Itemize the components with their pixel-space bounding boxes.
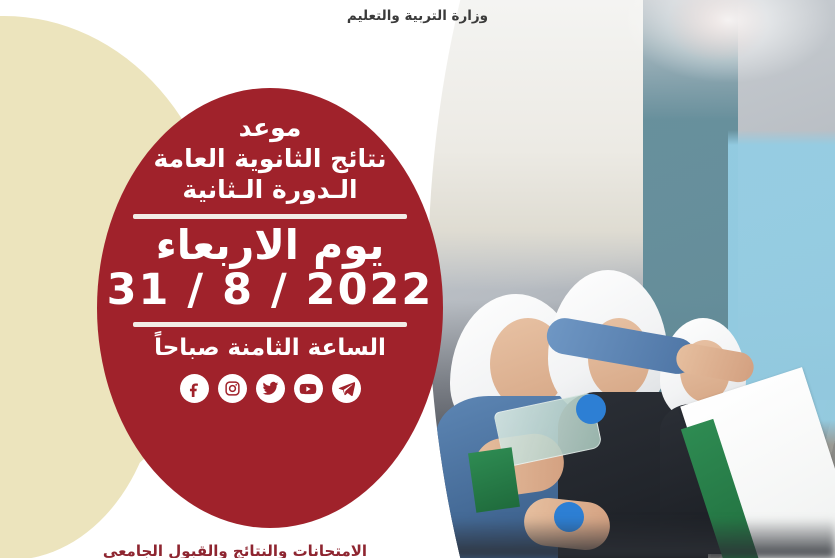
water-bottle-cap bbox=[576, 394, 606, 424]
photo-bottom-vignette bbox=[428, 518, 835, 558]
poster-root: وزارة التربية والتعليم موعد نتائج الثانو… bbox=[0, 0, 835, 558]
divider-rule-bottom bbox=[133, 322, 407, 327]
headline-line-3: الـدورة الـثانية bbox=[182, 174, 357, 205]
youtube-icon bbox=[299, 380, 317, 398]
twitter-icon bbox=[262, 380, 279, 397]
students-photo-panel bbox=[428, 0, 835, 558]
footer-clipped-strip: الامتحانات والنتائج والقبول الجامعي bbox=[0, 540, 470, 558]
date-label: 31 / 8 / 2022 bbox=[107, 267, 434, 314]
notebook-green bbox=[468, 447, 520, 513]
instagram-icon bbox=[224, 380, 241, 397]
telegram-icon bbox=[338, 380, 355, 397]
photo-clip-mask bbox=[428, 0, 835, 558]
headline-line-1: موعد bbox=[239, 112, 302, 143]
headline-line-2: نتائج الثانوية العامة bbox=[153, 143, 386, 174]
social-link-telegram[interactable] bbox=[332, 374, 361, 403]
social-link-youtube[interactable] bbox=[294, 374, 323, 403]
day-label: يوم الاربعاء bbox=[156, 223, 385, 267]
time-label: الساعة الثامنة صباحاً bbox=[154, 335, 386, 363]
social-link-facebook[interactable] bbox=[180, 374, 209, 403]
social-link-twitter[interactable] bbox=[256, 374, 285, 403]
footer-text: الامتحانات والنتائج والقبول الجامعي bbox=[0, 542, 470, 558]
social-link-instagram[interactable] bbox=[218, 374, 247, 403]
facebook-icon bbox=[186, 380, 203, 397]
ministry-title: وزارة التربية والتعليم bbox=[0, 8, 835, 24]
divider-rule-top bbox=[133, 214, 407, 219]
announcement-red-circle: موعد نتائج الثانوية العامة الـدورة الـثا… bbox=[97, 88, 443, 528]
social-links-row bbox=[180, 374, 361, 403]
